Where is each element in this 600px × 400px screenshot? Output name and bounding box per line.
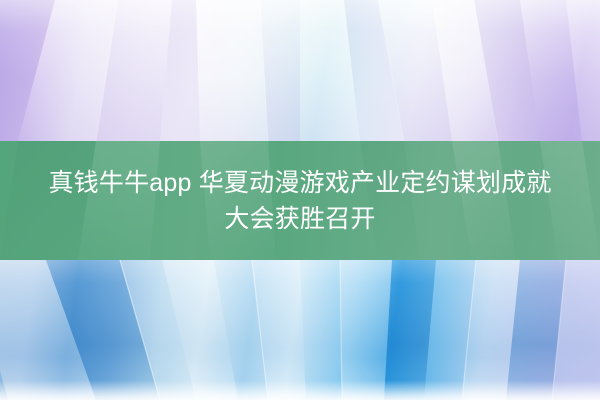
- headline-line-1: 真钱牛牛app 华夏动漫游戏产业定约谋划成就: [48, 165, 551, 201]
- top-pastel-region: [0, 0, 600, 141]
- faint-watermark: · ·: [296, 378, 366, 394]
- top-vertical-wash: [0, 0, 600, 141]
- headline-line-2: 大会获胜召开: [224, 201, 375, 237]
- banner-image: 真钱牛牛app 华夏动漫游戏产业定约谋划成就 大会获胜召开: [0, 0, 600, 400]
- banner-headline: 真钱牛牛app 华夏动漫游戏产业定约谋划成就 大会获胜召开: [0, 141, 600, 260]
